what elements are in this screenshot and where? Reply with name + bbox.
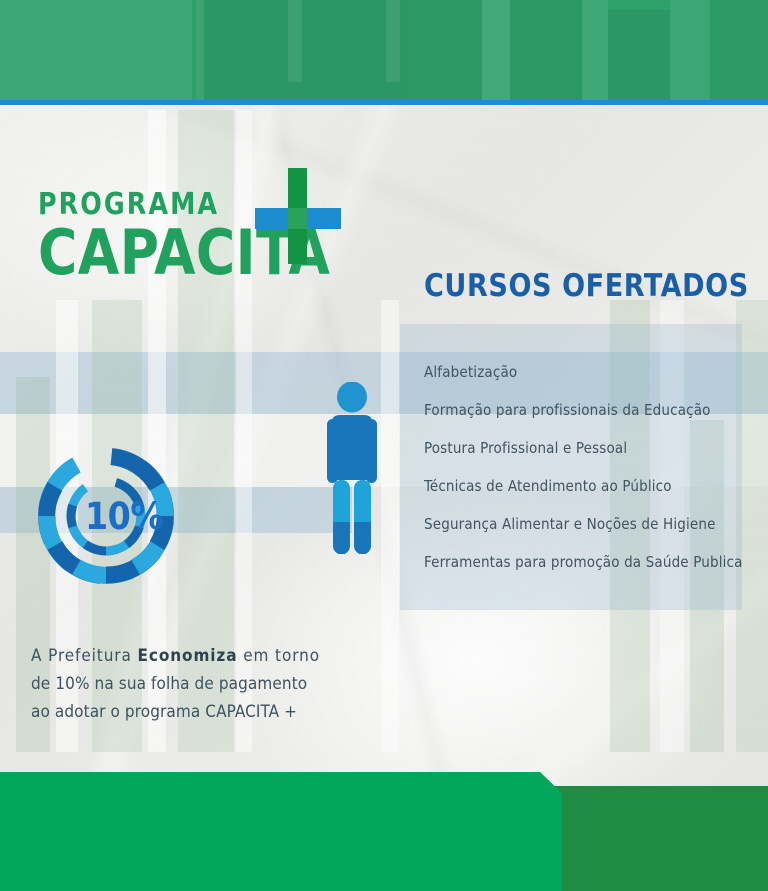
person-icon-shoe-left <box>333 522 350 554</box>
course-list-item: Alfabetização <box>424 362 744 400</box>
plus-icon <box>255 168 341 264</box>
savings-line-3: ao adotar o programa CAPACITA + <box>31 698 361 726</box>
person-icon <box>318 382 386 554</box>
plus-icon-center <box>288 208 307 229</box>
header-stripe-3 <box>204 0 404 104</box>
person-icon-head <box>337 382 367 413</box>
courses-heading: CURSOS OFERTADOS <box>424 268 749 304</box>
course-list-item: Formação para profissionais da Educação <box>424 400 744 438</box>
course-list-item: Ferramentas para promoção da Saúde Publi… <box>424 552 744 590</box>
course-list-item: Postura Profissional e Pessoal <box>424 438 744 476</box>
footer-band-bright-green <box>0 766 768 891</box>
course-list-item: Técnicas de Atendimento ao Público <box>424 476 744 514</box>
header-blue-rule <box>0 100 768 105</box>
savings-line-2: de 10% na sua folha de pagamento <box>31 670 361 698</box>
header-stripe-4 <box>288 0 302 82</box>
person-icon-arm-right <box>366 419 377 483</box>
savings-line-1-prefix: A Prefeitura <box>31 646 138 666</box>
savings-line-1: A Prefeitura Economiza em torno <box>31 642 361 670</box>
header-stripe-12 <box>710 0 768 104</box>
savings-emphasis-economiza: Economiza <box>138 646 238 666</box>
person-icon-shoe-right <box>354 522 371 554</box>
header-stripe-11 <box>670 0 710 104</box>
header-stripe-1 <box>0 0 192 104</box>
courses-list: Alfabetização Formação para profissionai… <box>424 362 754 590</box>
course-list-item: Segurança Alimentar e Noções de Higiene <box>424 514 744 552</box>
header-stripe-9 <box>582 0 608 104</box>
header-stripe-6 <box>404 0 482 104</box>
savings-paragraph: A Prefeitura Economiza em torno de 10% n… <box>31 642 361 726</box>
header-stripe-5 <box>386 0 400 82</box>
header-stripe-2 <box>196 0 204 104</box>
header-stripe-7 <box>482 0 510 104</box>
footer-bright-green-shape <box>0 772 562 891</box>
savings-line-1-suffix: em torno <box>237 646 320 666</box>
poster-canvas: PROGRAMA CAPACITA CURSOS OFERTADOS Alfab… <box>0 0 768 891</box>
donut-chart-center-label: 10% <box>85 498 185 535</box>
header-banner <box>0 0 768 104</box>
person-icon-arm-left <box>327 419 338 483</box>
header-stripe-10 <box>608 10 670 104</box>
header-stripe-8 <box>510 0 582 104</box>
